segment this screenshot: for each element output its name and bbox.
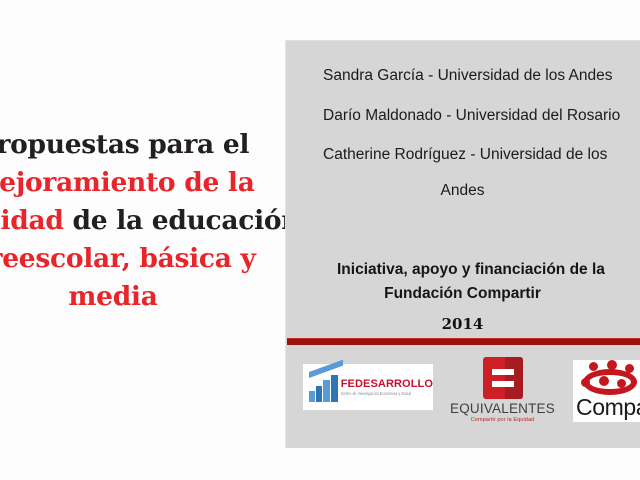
presentation-slide: Propuestas para el mejoramiento de la ca… [0,0,640,480]
equals-sign-icon [483,357,523,399]
equivalentes-label: EQUIVALENTES [450,401,555,416]
fedesarrollo-label: FEDESARROLLO [341,379,433,390]
compartir-logo: Compartir [573,360,640,422]
title-line-4: preescolar, básica y [0,240,268,278]
funding-line-1: Iniciativa, apoyo y financiación de la [285,258,640,282]
title-line-1: Propuestas para el [0,126,268,164]
year-label: 2014 [285,315,640,333]
equivalentes-tagline: Compartir por la Equidad [450,417,555,423]
funding-line-2: Fundación Compartir [285,282,640,306]
author-item-continuation: Andes [285,174,640,208]
title-line-3: calidad de la educación [0,202,268,240]
bar-chart-icon [309,372,338,402]
info-panel: Sandra García - Universidad de los Andes… [285,40,640,448]
author-item: Darío Maldonado - Universidad del Rosari… [285,96,640,136]
title-line-2: mejoramiento de la [0,164,268,202]
equivalentes-logo: EQUIVALENTES Compartir por la Equidad [450,357,555,423]
fedesarrollo-tagline: Centro de Investigación Económica y Soci… [341,392,433,396]
author-item: Catherine Rodríguez - Universidad de los [285,136,640,174]
funding-credit: Iniciativa, apoyo y financiación de la F… [285,258,640,306]
compartir-label: Compartir [576,394,640,421]
title-line-3-highlight: calidad [0,205,64,236]
title-line-5: media [0,278,268,316]
fedesarrollo-logo: FEDESARROLLO Centro de Investigación Eco… [303,364,433,410]
logo-strip: FEDESARROLLO Centro de Investigación Eco… [285,355,640,448]
title-line-3-rest: de la educación [64,205,301,236]
author-item: Sandra García - Universidad de los Andes [285,56,640,96]
slide-title: Propuestas para el mejoramiento de la ca… [0,126,268,316]
authors-list: Sandra García - Universidad de los Andes… [285,56,640,208]
people-circle-icon [579,362,640,398]
red-divider [287,338,640,345]
